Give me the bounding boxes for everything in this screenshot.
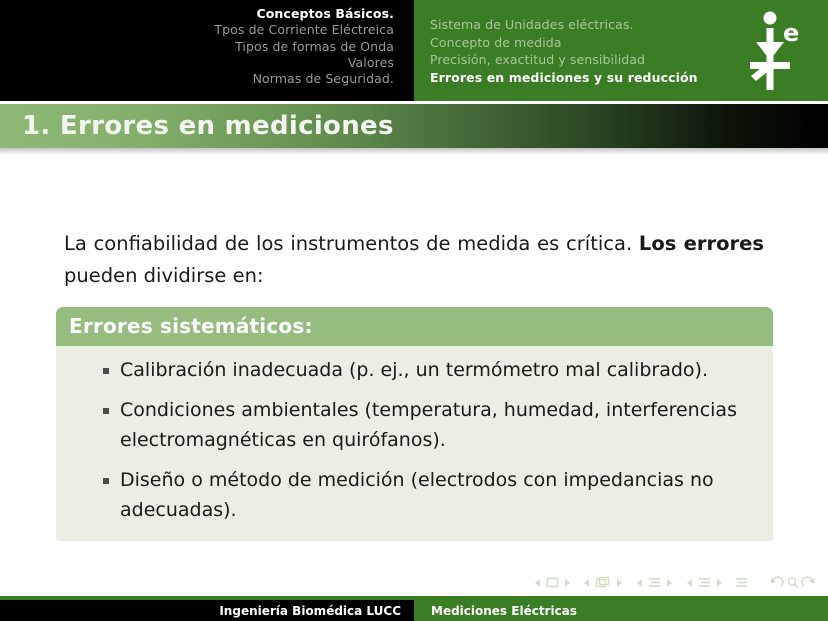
search-icon xyxy=(786,576,799,589)
intro-paragraph-part1: La confiabilidad de los instrumentos de … xyxy=(64,232,639,255)
frame-navigation[interactable] xyxy=(583,576,623,589)
slide-icon xyxy=(546,576,559,589)
prev-slide-arrow-icon xyxy=(534,577,542,589)
list-item: Calibración inadecuada (p. ej., un termó… xyxy=(72,355,757,385)
forward-icon xyxy=(801,576,815,589)
section-icon xyxy=(698,576,711,589)
header-nav-item-valores[interactable]: Valores xyxy=(10,55,394,71)
prev-section-arrow-icon xyxy=(686,577,694,589)
header-nav-right: Sistema de Unidades eléctricas. Concepto… xyxy=(414,0,828,101)
prev-subsection-arrow-icon xyxy=(636,577,644,589)
back-icon xyxy=(770,576,784,589)
document-icon xyxy=(735,576,748,589)
beamer-navigation-symbols xyxy=(0,576,828,596)
page-title: 1. Errores en mediciones xyxy=(0,111,394,141)
block-title: Errores sistemáticos: xyxy=(56,307,773,346)
header-nav-item-conceptos[interactable]: Conceptos Básicos. xyxy=(10,6,394,22)
prev-frame-arrow-icon xyxy=(583,577,591,589)
header-nav-left: Conceptos Básicos. Tpos de Corriente Elé… xyxy=(0,0,414,101)
bullet-square-icon xyxy=(103,478,109,484)
slide-footer: Ingeniería Biomédica LUCC Mediciones Elé… xyxy=(0,600,828,621)
bullet-square-icon xyxy=(103,408,109,414)
next-frame-arrow-icon xyxy=(615,577,623,589)
title-bar-shadow xyxy=(0,148,828,155)
next-section-arrow-icon xyxy=(715,577,723,589)
header-nav-item-tipos-corriente[interactable]: Tpos de Corriente Eléctreica xyxy=(10,22,394,38)
footer-subject: Mediciones Eléctricas xyxy=(414,600,828,621)
bullet-square-icon xyxy=(103,368,109,374)
slide-header: Conceptos Básicos. Tpos de Corriente Elé… xyxy=(0,0,828,101)
presentation-navigation[interactable] xyxy=(735,576,748,589)
list-item-text: Calibración inadecuada (p. ej., un termó… xyxy=(120,359,708,381)
frame-icon xyxy=(595,576,611,589)
intro-paragraph-bold: Los errores xyxy=(639,232,764,255)
header-nav-item-normas-seguridad[interactable]: Normas de Seguridad. xyxy=(10,71,394,87)
subsection-navigation[interactable] xyxy=(636,576,673,589)
institution-logo-ie-icon: e xyxy=(734,8,814,94)
list-item-text: Diseño o método de medición (electrodos … xyxy=(120,469,714,521)
intro-paragraph-part2: pueden dividirse en: xyxy=(64,264,264,287)
footer-institution: Ingeniería Biomédica LUCC xyxy=(0,600,414,621)
intro-paragraph: La confiabilidad de los instrumentos de … xyxy=(64,228,764,292)
slide-content: La confiabilidad de los instrumentos de … xyxy=(0,155,828,585)
block-body: Calibración inadecuada (p. ej., un termó… xyxy=(56,346,773,541)
next-slide-arrow-icon xyxy=(563,577,571,589)
svg-text:e: e xyxy=(783,19,799,47)
slide-title-bar: 1. Errores en mediciones xyxy=(0,104,828,148)
header-nav-item-formas-onda[interactable]: Tipos de formas de Onda xyxy=(10,39,394,55)
list-item: Condiciones ambientales (temperatura, hu… xyxy=(72,395,757,455)
list-item: Diseño o método de medición (electrodos … xyxy=(72,465,757,525)
section-navigation[interactable] xyxy=(686,576,723,589)
slide-navigation[interactable] xyxy=(534,576,571,589)
next-subsection-arrow-icon xyxy=(665,577,673,589)
back-find-forward[interactable] xyxy=(770,576,815,589)
subsection-icon xyxy=(648,576,661,589)
bullet-list: Calibración inadecuada (p. ej., un termó… xyxy=(72,355,757,525)
list-item-text: Condiciones ambientales (temperatura, hu… xyxy=(120,399,737,451)
errores-sistematicos-block: Errores sistemáticos: Calibración inadec… xyxy=(56,307,773,541)
